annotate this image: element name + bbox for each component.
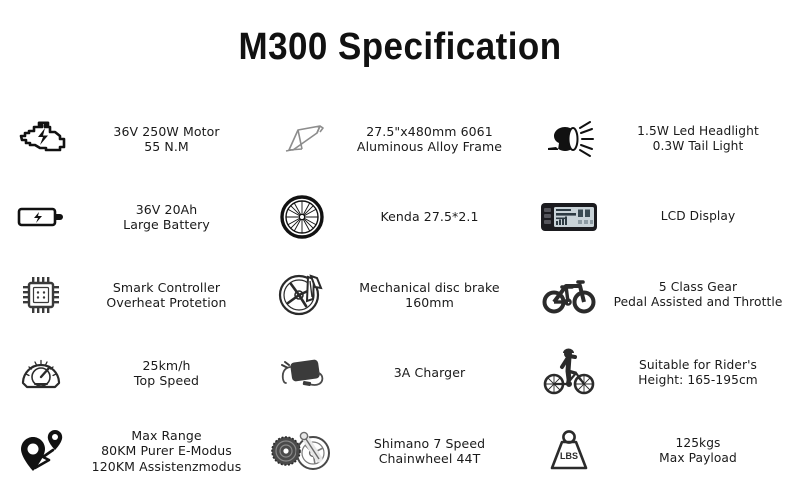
spec-item-charger: 3A Charger bbox=[265, 334, 530, 412]
cassette-chainwheel-icon bbox=[271, 420, 333, 482]
spec-text: 3A Charger bbox=[333, 365, 530, 381]
cyclist-icon bbox=[538, 342, 600, 404]
ebike-icon bbox=[538, 264, 600, 326]
spec-text: 27.5"x480mm 6061 Aluminous Alloy Frame bbox=[333, 124, 530, 155]
spec-text: Suitable for Rider's Height: 165-195cm bbox=[600, 358, 800, 389]
weight-unit-label: LBS bbox=[560, 451, 578, 461]
spec-item-lights: 1.5W Led Headlight 0.3W Tail Light bbox=[530, 100, 800, 178]
spec-text: Shimano 7 Speed Chainwheel 44T bbox=[333, 436, 530, 467]
spec-item-rider-height: Suitable for Rider's Height: 165-195cm bbox=[530, 334, 800, 412]
chip-icon bbox=[10, 264, 72, 326]
spec-text: 5 Class Gear Pedal Assisted and Throttle bbox=[600, 280, 800, 311]
lcd-display-icon bbox=[538, 186, 600, 248]
spec-item-controller: Smark Controller Overheat Protetion bbox=[0, 256, 265, 334]
spec-text: LCD Display bbox=[600, 209, 800, 225]
spec-item-display: LCD Display bbox=[530, 178, 800, 256]
spec-text: Smark Controller Overheat Protetion bbox=[72, 280, 265, 311]
charger-icon bbox=[271, 342, 333, 404]
spec-text: 125kgs Max Payload bbox=[600, 436, 800, 467]
spec-item-tire: Kenda 27.5*2.1 bbox=[265, 178, 530, 256]
bike-frame-icon bbox=[271, 108, 333, 170]
motor-icon bbox=[10, 108, 72, 170]
spec-item-payload: LBS 125kgs Max Payload bbox=[530, 412, 800, 490]
spec-item-top-speed: 25km/h Top Speed bbox=[0, 334, 265, 412]
spec-item-range: Max Range 80KM Purer E-Modus 120KM Assis… bbox=[0, 412, 265, 490]
page-title: M300 Specification bbox=[32, 26, 768, 69]
spec-text: 25km/h Top Speed bbox=[72, 358, 265, 389]
spec-text: 36V 20Ah Large Battery bbox=[72, 202, 265, 233]
spec-text: 36V 250W Motor 55 N.M bbox=[72, 124, 265, 155]
disc-brake-icon bbox=[271, 264, 333, 326]
spec-grid: 36V 250W Motor 55 N.M 27.5"x480mm 6061 A… bbox=[0, 100, 800, 492]
speedometer-icon bbox=[10, 342, 72, 404]
map-pin-route-icon bbox=[10, 420, 72, 482]
wheel-icon bbox=[271, 186, 333, 248]
spec-item-brake: Mechanical disc brake 160mm bbox=[265, 256, 530, 334]
spec-text: Mechanical disc brake 160mm bbox=[333, 280, 530, 311]
weight-icon: LBS bbox=[538, 420, 600, 482]
headlight-icon bbox=[538, 108, 600, 170]
spec-text: Max Range 80KM Purer E-Modus 120KM Assis… bbox=[72, 428, 265, 475]
spec-item-gear: 5 Class Gear Pedal Assisted and Throttle bbox=[530, 256, 800, 334]
spec-item-battery: 36V 20Ah Large Battery bbox=[0, 178, 265, 256]
spec-item-motor: 36V 250W Motor 55 N.M bbox=[0, 100, 265, 178]
spec-text: Kenda 27.5*2.1 bbox=[333, 209, 530, 225]
spec-item-drivetrain: Shimano 7 Speed Chainwheel 44T bbox=[265, 412, 530, 490]
spec-item-frame: 27.5"x480mm 6061 Aluminous Alloy Frame bbox=[265, 100, 530, 178]
spec-text: 1.5W Led Headlight 0.3W Tail Light bbox=[600, 124, 800, 155]
battery-icon bbox=[10, 186, 72, 248]
spec-sheet: M300 Specification 36V 250W Motor 55 N.M bbox=[0, 0, 800, 495]
